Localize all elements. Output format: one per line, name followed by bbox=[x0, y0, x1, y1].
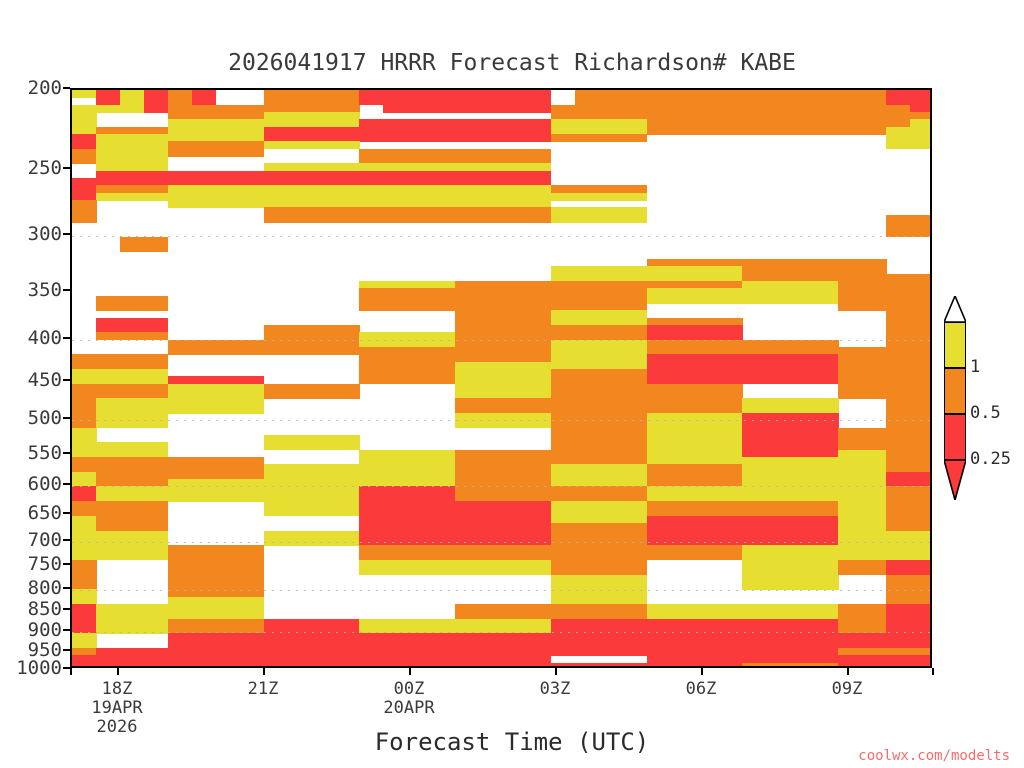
heatmap-cell bbox=[335, 663, 360, 668]
heatmap-plot-area[interactable] bbox=[70, 88, 932, 668]
heatmap-cell bbox=[120, 663, 145, 668]
heatmap-cell bbox=[96, 332, 121, 340]
heatmap-cell bbox=[623, 134, 648, 142]
heatmap-cell bbox=[96, 303, 121, 311]
heatmap-cell bbox=[527, 420, 552, 428]
y-tick-label: 650 bbox=[2, 502, 62, 524]
y-tick-mark bbox=[63, 608, 70, 610]
heatmap-cell bbox=[575, 134, 600, 142]
heatmap-cell bbox=[216, 494, 241, 502]
heatmap-cell bbox=[599, 648, 624, 656]
heatmap-cell bbox=[479, 663, 504, 668]
heatmap-cell bbox=[551, 193, 576, 201]
heatmap-cell bbox=[479, 134, 504, 142]
heatmap-cell bbox=[288, 141, 313, 149]
heatmap-cell bbox=[431, 303, 456, 311]
heatmap-cell bbox=[264, 391, 289, 399]
heatmap-cell bbox=[719, 663, 744, 668]
heatmap-cell bbox=[551, 134, 576, 142]
heatmap-cell bbox=[288, 508, 313, 516]
heatmap-cell bbox=[671, 127, 696, 135]
chart-root: 2026041917 HRRR Forecast Richardson# KAB… bbox=[0, 0, 1024, 768]
heatmap-cell bbox=[503, 420, 528, 428]
heatmap-cell bbox=[311, 391, 336, 399]
heatmap-cell bbox=[240, 149, 265, 157]
heatmap-cell bbox=[192, 347, 217, 355]
heatmap-cell bbox=[383, 134, 408, 142]
heatmap-cell bbox=[288, 391, 313, 399]
richardson-number-colorbar[interactable]: 10.50.25 bbox=[940, 296, 1024, 486]
heatmap-cell bbox=[479, 420, 504, 428]
heatmap-cell bbox=[790, 582, 815, 590]
heatmap-cell bbox=[120, 626, 145, 634]
heatmap-cell bbox=[527, 134, 552, 142]
colorbar-tick-label: 0.5 bbox=[970, 403, 1001, 423]
heatmap-cell bbox=[335, 538, 360, 546]
heatmap-cell bbox=[311, 442, 336, 450]
y-tick-mark bbox=[63, 337, 70, 339]
heatmap-cell bbox=[288, 347, 313, 355]
heatmap-cell bbox=[359, 567, 384, 575]
colorbar-tick-label: 1 bbox=[970, 357, 980, 377]
x-tick-mark bbox=[847, 668, 849, 675]
heatmap-cell bbox=[168, 200, 193, 208]
heatmap-cell bbox=[192, 149, 217, 157]
x-tick-label: 00Z bbox=[349, 679, 469, 699]
heatmap-cell bbox=[120, 303, 145, 311]
heatmap-cell bbox=[216, 347, 241, 355]
heatmap-cell bbox=[886, 229, 911, 237]
heatmap-cell bbox=[671, 553, 696, 561]
heatmap-cell bbox=[383, 105, 408, 113]
heatmap-cell bbox=[168, 663, 193, 668]
heatmap-cell bbox=[407, 215, 432, 223]
colorbar-segment[interactable] bbox=[944, 368, 966, 414]
y-tick-label: 400 bbox=[2, 327, 62, 349]
heatmap-cell bbox=[742, 127, 767, 135]
heatmap-cell bbox=[719, 296, 744, 304]
heatmap-cell bbox=[671, 296, 696, 304]
colorbar-under-tip bbox=[944, 460, 966, 500]
heatmap-cell bbox=[288, 442, 313, 450]
y-tick-label: 750 bbox=[2, 553, 62, 575]
heatmap-cell bbox=[264, 141, 289, 149]
heatmap-cell bbox=[120, 193, 145, 201]
heatmap-cell bbox=[120, 553, 145, 561]
heatmap-cell bbox=[479, 215, 504, 223]
y-tick-label: 200 bbox=[2, 77, 62, 99]
heatmap-cell bbox=[359, 215, 384, 223]
heatmap-cell bbox=[264, 347, 289, 355]
heatmap-cell bbox=[311, 508, 336, 516]
heatmap-cell bbox=[910, 229, 932, 237]
heatmap-cell bbox=[671, 663, 696, 668]
heatmap-cell bbox=[240, 406, 265, 414]
heatmap-cell bbox=[790, 127, 815, 135]
x-tick-label: 09Z bbox=[787, 679, 907, 699]
heatmap-cell bbox=[575, 663, 600, 668]
heatmap-cell bbox=[503, 663, 528, 668]
heatmap-cell bbox=[407, 567, 432, 575]
heatmap-cell bbox=[311, 141, 336, 149]
heatmap-cell bbox=[455, 420, 480, 428]
heatmap-cell bbox=[599, 215, 624, 223]
heatmap-cell bbox=[599, 134, 624, 142]
heatmap-cell bbox=[431, 134, 456, 142]
heatmap-cell bbox=[240, 347, 265, 355]
x-tick-label: 18Z bbox=[57, 679, 177, 699]
heatmap-cell bbox=[790, 663, 815, 668]
heatmap-cell bbox=[695, 127, 720, 135]
y-tick-label: 500 bbox=[2, 407, 62, 429]
heatmap-cell bbox=[383, 567, 408, 575]
heatmap-cell bbox=[886, 663, 911, 668]
heatmap-cell bbox=[695, 296, 720, 304]
heatmap-cell bbox=[647, 553, 672, 561]
heatmap-cell bbox=[168, 149, 193, 157]
heatmap-cell bbox=[623, 193, 648, 201]
heatmap-cell bbox=[814, 582, 839, 590]
y-tick-label: 700 bbox=[2, 529, 62, 551]
heatmap-cell bbox=[862, 391, 887, 399]
heatmap-cell bbox=[479, 105, 504, 113]
y-tick-label: 250 bbox=[2, 157, 62, 179]
heatmap-cell bbox=[192, 494, 217, 502]
heatmap-cell bbox=[168, 406, 193, 414]
heatmap-cell bbox=[72, 156, 97, 164]
heatmap-cell bbox=[120, 244, 145, 252]
x-tick-mark bbox=[70, 668, 72, 675]
heatmap-cell bbox=[192, 406, 217, 414]
heatmap-cell bbox=[335, 391, 360, 399]
heatmap-cell bbox=[838, 391, 863, 399]
heatmap-cell bbox=[455, 663, 480, 668]
heatmap-cell bbox=[96, 193, 121, 201]
heatmap-cell bbox=[647, 663, 672, 668]
heatmap-cell bbox=[216, 200, 241, 208]
heatmap-cell bbox=[814, 376, 839, 384]
heatmap-cell bbox=[862, 567, 887, 575]
heatmap-cell bbox=[144, 244, 169, 252]
heatmap-cell bbox=[575, 648, 600, 656]
heatmap-cell bbox=[862, 663, 887, 668]
heatmap-cell bbox=[96, 420, 121, 428]
heatmap-cell bbox=[96, 626, 121, 634]
heatmap-cells bbox=[72, 90, 930, 666]
heatmap-cell bbox=[814, 663, 839, 668]
heatmap-cell bbox=[503, 134, 528, 142]
heatmap-cell bbox=[407, 303, 432, 311]
heatmap-cell bbox=[766, 127, 791, 135]
heatmap-cell bbox=[288, 538, 313, 546]
heatmap-cell bbox=[335, 215, 360, 223]
heatmap-cell bbox=[599, 663, 624, 668]
y-tick-label: 350 bbox=[2, 279, 62, 301]
heatmap-cell bbox=[431, 376, 456, 384]
heatmap-cell bbox=[335, 442, 360, 450]
heatmap-cell bbox=[623, 663, 648, 668]
heatmap-cell bbox=[647, 127, 672, 135]
y-tick-mark bbox=[63, 483, 70, 485]
heatmap-cell bbox=[192, 663, 217, 668]
heatmap-cell bbox=[455, 134, 480, 142]
heatmap-cell bbox=[814, 127, 839, 135]
heatmap-cell bbox=[838, 303, 863, 311]
heatmap-cell bbox=[719, 553, 744, 561]
heatmap-cell bbox=[575, 193, 600, 201]
colorbar-over-tip bbox=[944, 296, 966, 322]
x-tick-mark bbox=[263, 668, 265, 675]
heatmap-cell bbox=[96, 105, 121, 113]
y-tick-mark bbox=[63, 289, 70, 291]
heatmap-cell bbox=[790, 376, 815, 384]
heatmap-cell bbox=[862, 127, 887, 135]
heatmap-cell bbox=[862, 303, 887, 311]
heatmap-cell bbox=[264, 215, 289, 223]
heatmap-cell bbox=[599, 193, 624, 201]
heatmap-cell bbox=[455, 567, 480, 575]
heatmap-cell bbox=[695, 663, 720, 668]
heatmap-cell bbox=[742, 376, 767, 384]
heatmap-cell bbox=[527, 215, 552, 223]
heatmap-cell bbox=[623, 648, 648, 656]
heatmap-cell bbox=[72, 90, 97, 98]
y-tick-mark bbox=[63, 87, 70, 89]
heatmap-cell bbox=[383, 376, 408, 384]
heatmap-cell bbox=[359, 134, 384, 142]
heatmap-cell bbox=[144, 303, 169, 311]
heatmap-cell bbox=[719, 127, 744, 135]
y-tick-mark bbox=[63, 167, 70, 169]
heatmap-cell bbox=[838, 663, 863, 668]
heatmap-cell bbox=[311, 347, 336, 355]
heatmap-cell bbox=[216, 406, 241, 414]
heatmap-cell bbox=[838, 127, 863, 135]
heatmap-cell bbox=[383, 215, 408, 223]
heatmap-cell bbox=[407, 105, 432, 113]
heatmap-cell bbox=[72, 215, 97, 223]
y-tick-mark bbox=[63, 417, 70, 419]
heatmap-cell bbox=[168, 494, 193, 502]
heatmap-cell bbox=[72, 663, 97, 668]
heatmap-cell bbox=[264, 508, 289, 516]
credit-watermark: coolwx.com/modelts bbox=[858, 748, 1010, 764]
y-tick-mark bbox=[63, 539, 70, 541]
x-tick-date: 20APR bbox=[349, 698, 469, 718]
heatmap-cell bbox=[264, 442, 289, 450]
heatmap-cell bbox=[216, 663, 241, 668]
heatmap-cell bbox=[359, 376, 384, 384]
heatmap-cell bbox=[766, 376, 791, 384]
heatmap-cell bbox=[431, 215, 456, 223]
heatmap-cell bbox=[335, 508, 360, 516]
heatmap-cell bbox=[120, 105, 145, 113]
y-tick-mark bbox=[63, 233, 70, 235]
heatmap-cell bbox=[790, 296, 815, 304]
heatmap-cell bbox=[910, 663, 932, 668]
y-tick-label: 450 bbox=[2, 369, 62, 391]
colorbar-segment[interactable] bbox=[944, 414, 966, 460]
y-tick-mark bbox=[63, 629, 70, 631]
y-tick-label: 800 bbox=[2, 577, 62, 599]
heatmap-cell bbox=[766, 296, 791, 304]
heatmap-cell bbox=[311, 663, 336, 668]
y-tick-label: 850 bbox=[2, 598, 62, 620]
x-tick-label: 06Z bbox=[641, 679, 761, 699]
heatmap-cell bbox=[431, 567, 456, 575]
heatmap-cell bbox=[503, 215, 528, 223]
heatmap-cell bbox=[144, 663, 169, 668]
heatmap-cell bbox=[383, 303, 408, 311]
heatmap-cell bbox=[192, 200, 217, 208]
heatmap-cell bbox=[695, 553, 720, 561]
heatmap-cell bbox=[359, 97, 384, 105]
heatmap-cell bbox=[120, 332, 145, 340]
heatmap-cell bbox=[407, 376, 432, 384]
heatmap-cell bbox=[479, 567, 504, 575]
heatmap-cell bbox=[240, 663, 265, 668]
heatmap-cell bbox=[742, 582, 767, 590]
heatmap-cell bbox=[144, 105, 169, 113]
y-tick-mark bbox=[63, 649, 70, 651]
heatmap-cell bbox=[431, 663, 456, 668]
heatmap-cell bbox=[527, 105, 552, 113]
heatmap-cell bbox=[96, 553, 121, 561]
heatmap-cell bbox=[359, 303, 384, 311]
colorbar-tick-label: 0.25 bbox=[970, 449, 1011, 469]
heatmap-cell bbox=[503, 567, 528, 575]
heatmap-cell bbox=[168, 347, 193, 355]
y-tick-label: 1000 bbox=[2, 657, 62, 679]
heatmap-cell bbox=[551, 215, 576, 223]
heatmap-cell bbox=[216, 149, 241, 157]
heatmap-cell bbox=[551, 648, 576, 656]
x-tick-mark bbox=[117, 668, 119, 675]
x-tick-date: 19APR bbox=[57, 698, 177, 718]
heatmap-cell bbox=[527, 567, 552, 575]
heatmap-cell bbox=[144, 332, 169, 340]
heatmap-cell bbox=[359, 663, 384, 668]
heatmap-cell bbox=[886, 141, 911, 149]
heatmap-cell bbox=[527, 663, 552, 668]
heatmap-cell bbox=[623, 215, 648, 223]
heatmap-cell bbox=[335, 141, 360, 149]
heatmap-cell bbox=[311, 538, 336, 546]
heatmap-cell bbox=[311, 215, 336, 223]
x-tick-mark bbox=[555, 668, 557, 675]
heatmap-cell bbox=[335, 347, 360, 355]
y-tick-mark bbox=[63, 667, 70, 669]
heatmap-cell bbox=[575, 215, 600, 223]
heatmap-cell bbox=[144, 626, 169, 634]
y-tick-mark bbox=[63, 587, 70, 589]
x-tick-label: 03Z bbox=[495, 679, 615, 699]
x-tick-mark bbox=[932, 668, 934, 675]
heatmap-cell bbox=[407, 134, 432, 142]
chart-title: 2026041917 HRRR Forecast Richardson# KAB… bbox=[0, 50, 1024, 76]
y-tick-label: 600 bbox=[2, 473, 62, 495]
y-tick-mark bbox=[63, 512, 70, 514]
heatmap-cell bbox=[455, 105, 480, 113]
heatmap-cell bbox=[742, 296, 767, 304]
y-tick-mark bbox=[63, 379, 70, 381]
y-tick-mark bbox=[63, 452, 70, 454]
x-tick-mark bbox=[409, 668, 411, 675]
x-tick-mark bbox=[701, 668, 703, 675]
heatmap-cell bbox=[503, 105, 528, 113]
heatmap-cell bbox=[120, 420, 145, 428]
y-tick-label: 300 bbox=[2, 223, 62, 245]
x-tick-label: 21Z bbox=[203, 679, 323, 699]
heatmap-cell bbox=[240, 200, 265, 208]
heatmap-cell bbox=[144, 420, 169, 428]
heatmap-cell bbox=[264, 538, 289, 546]
heatmap-cell bbox=[455, 215, 480, 223]
heatmap-cell bbox=[838, 567, 863, 575]
heatmap-cell bbox=[264, 663, 289, 668]
colorbar-segment[interactable] bbox=[944, 322, 966, 368]
heatmap-cell bbox=[910, 141, 932, 149]
heatmap-cell bbox=[144, 553, 169, 561]
heatmap-cell bbox=[766, 663, 791, 668]
heatmap-cell bbox=[431, 105, 456, 113]
heatmap-cell bbox=[383, 663, 408, 668]
y-tick-mark bbox=[63, 563, 70, 565]
heatmap-cell bbox=[766, 582, 791, 590]
heatmap-cell bbox=[814, 296, 839, 304]
heatmap-cell bbox=[144, 193, 169, 201]
y-tick-label: 550 bbox=[2, 442, 62, 464]
heatmap-cell bbox=[288, 215, 313, 223]
heatmap-cell bbox=[647, 296, 672, 304]
heatmap-cell bbox=[240, 494, 265, 502]
heatmap-cell bbox=[742, 663, 767, 668]
heatmap-cell bbox=[288, 663, 313, 668]
